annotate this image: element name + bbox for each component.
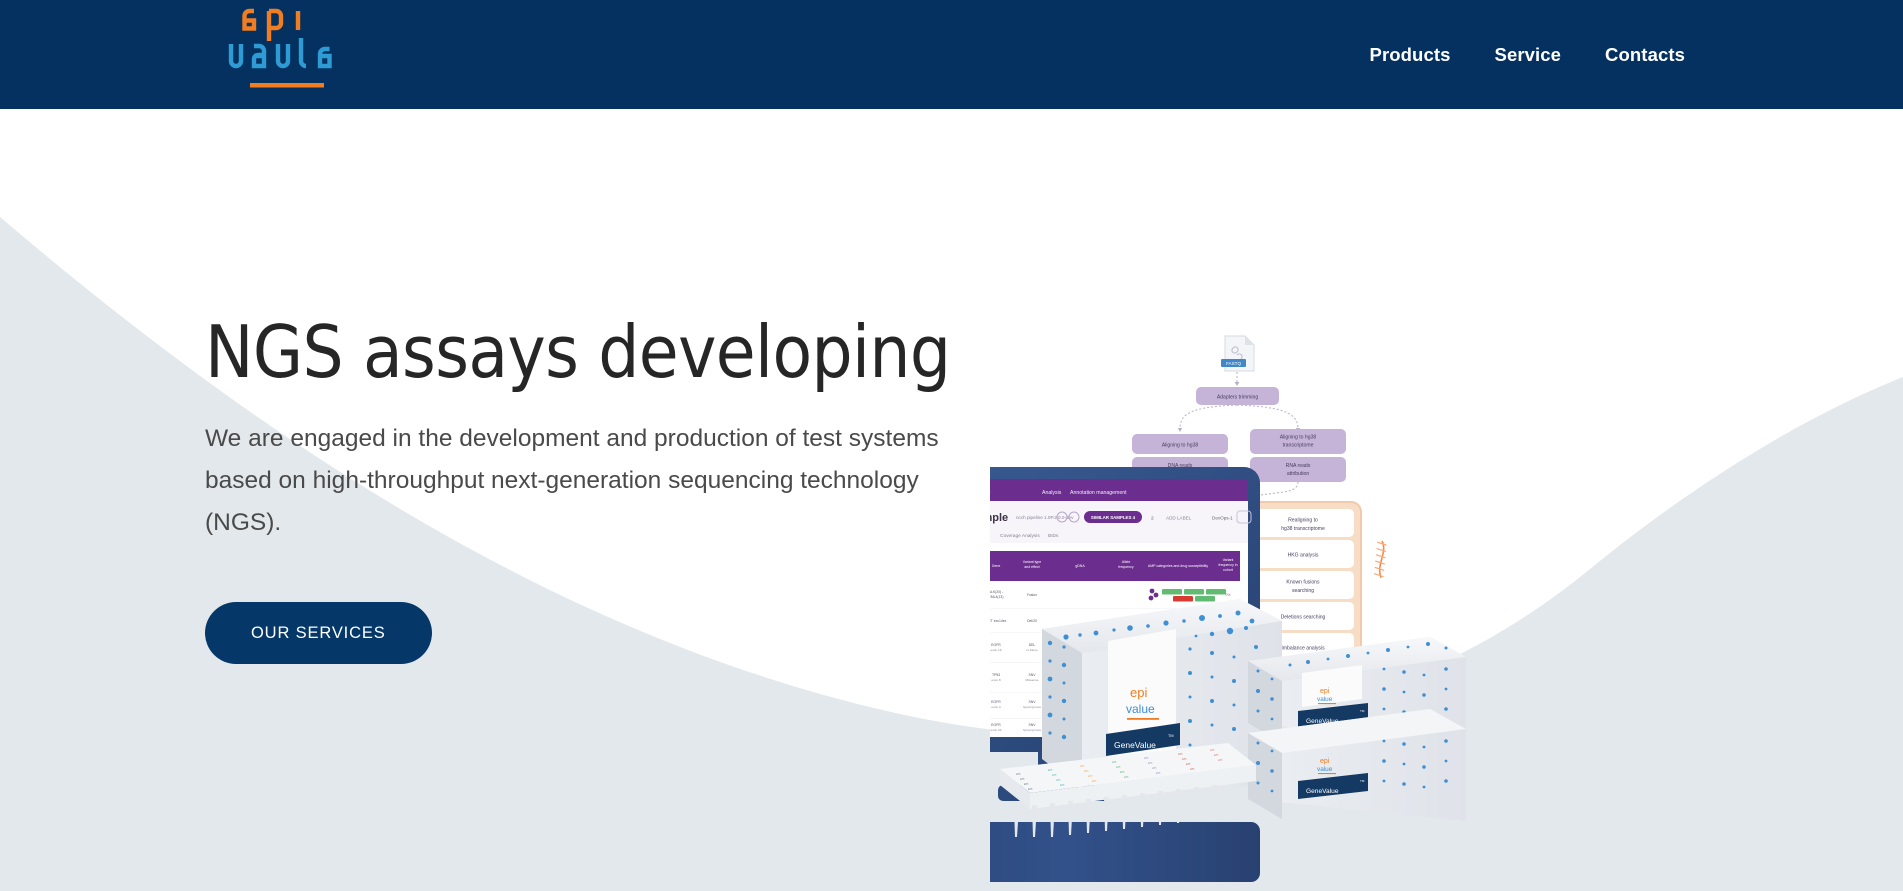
- epivalue-logo[interactable]: [228, 0, 346, 102]
- svg-text:Missense: Missense: [1025, 678, 1038, 682]
- svg-text:0%: 0%: [1226, 593, 1231, 597]
- svg-text:EGFR: EGFR: [991, 700, 1001, 704]
- kit-product-name: GeneValue: [1114, 740, 1156, 750]
- nav-item-service[interactable]: Service: [1473, 44, 1584, 66]
- svg-text:Realigning to: Realigning to: [1288, 518, 1318, 524]
- kit-trademark: TM: [1360, 709, 1365, 713]
- kit-logo-top: epi: [1320, 688, 1330, 695]
- svg-text:RNA reads: RNA reads: [1286, 463, 1311, 469]
- hero-text-block: NGS assays developing We are engaged in …: [205, 314, 1065, 664]
- kit-trademark: TM: [1360, 779, 1365, 783]
- svg-text:Known fusions: Known fusions: [1286, 580, 1320, 586]
- rna-step-label: Imbalance analysis: [1281, 646, 1325, 652]
- kit-product-name: GeneValue: [1306, 788, 1339, 795]
- rna-step-label: Deletions searching: [1281, 615, 1326, 621]
- svg-text:hg38 transcriptome: hg38 transcriptome: [1281, 526, 1325, 532]
- main-navigation: Products Service Contacts: [1348, 0, 1903, 109]
- svg-text:SNV: SNV: [1029, 673, 1037, 677]
- fastq-file-icon: FASTQ: [1221, 336, 1254, 371]
- svg-text:SNV: SNV: [1029, 723, 1037, 727]
- page-title: NGS assays developing: [205, 314, 1065, 392]
- kit-logo-bottom: value: [1317, 766, 1333, 773]
- svg-text:Allele: Allele: [1122, 560, 1131, 564]
- flow-node-aligning-hg38: Aligning to hg38: [1132, 434, 1228, 454]
- svg-text:EGFR: EGFR: [991, 723, 1001, 727]
- svg-text:exon 4: exon 4: [991, 705, 1001, 709]
- site-header: Products Service Contacts: [0, 0, 1903, 109]
- svg-text:Variant: Variant: [1223, 558, 1234, 562]
- kit-logo-bottom: value: [1126, 702, 1155, 716]
- svg-text:Aligning to hg38: Aligning to hg38: [1280, 435, 1317, 441]
- flow-node-label: Adapters trimming: [1217, 395, 1258, 401]
- app-menu-annotation-management[interactable]: Annotation management: [1070, 490, 1127, 496]
- flow-node-adapters-trimming: Adapters trimming: [1196, 387, 1279, 405]
- svg-text:FASTQ: FASTQ: [1226, 361, 1241, 366]
- rna-strand-icon: [1365, 539, 1397, 578]
- hero-section: NGS assays developing We are engaged in …: [0, 109, 1903, 891]
- svg-text:attribution: attribution: [1287, 471, 1310, 477]
- similar-samples-button[interactable]: SIMILAR SAMPLES 4: [1091, 515, 1136, 520]
- product-kit-boxes: epi value GeneValue TM: [1000, 599, 1466, 837]
- flow-node-rna-reads-attribution: RNA reads attribution: [1250, 457, 1346, 482]
- flow-node-aligning-hg38-transcriptome: Aligning to hg38 transcriptome: [1250, 429, 1346, 454]
- col-amp-categories: AMP categories and drug susceptibility: [1148, 564, 1208, 568]
- hero-illustration: FASTQ Adapters trimming Aligning to hg38: [990, 229, 1903, 891]
- svg-text:cohort: cohort: [1223, 568, 1233, 572]
- nav-item-products[interactable]: Products: [1348, 44, 1473, 66]
- hero-paragraph: We are engaged in the development and pr…: [205, 418, 965, 544]
- svg-text:frequency: frequency: [1118, 565, 1134, 569]
- kit-logo-bottom: value: [1317, 696, 1333, 703]
- kit-trademark: TM: [1168, 734, 1173, 738]
- svg-text:SNV: SNV: [1029, 700, 1037, 704]
- svg-text:TP53: TP53: [992, 673, 1000, 677]
- svg-text:transcriptome: transcriptome: [1283, 443, 1314, 449]
- our-services-button[interactable]: OUR SERVICES: [205, 602, 432, 664]
- kit-logo-top: epi: [1130, 685, 1147, 700]
- similar-samples-count: 2: [1151, 516, 1154, 522]
- svg-text:Synonymous: Synonymous: [1023, 705, 1041, 709]
- svg-text:Synonymous: Synonymous: [1023, 728, 1041, 732]
- nav-item-contacts[interactable]: Contacts: [1583, 44, 1707, 66]
- svg-text:exon 20: exon 20: [990, 728, 1001, 732]
- user-label: DevOps-1: [1212, 516, 1233, 521]
- rna-step-label: HKG analysis: [1288, 553, 1319, 559]
- col-gdna: gDNA: [1075, 564, 1085, 568]
- svg-text:exon 8: exon 8: [991, 678, 1001, 682]
- keyboard: [990, 822, 1260, 882]
- flow-node-label: Aligning to hg38: [1162, 443, 1199, 449]
- add-label-button[interactable]: ADD LABEL: [1166, 516, 1192, 521]
- kit-logo-top: epi: [1320, 758, 1330, 765]
- svg-text:searching: searching: [1292, 588, 1314, 594]
- svg-text:frequency in: frequency in: [1218, 563, 1237, 567]
